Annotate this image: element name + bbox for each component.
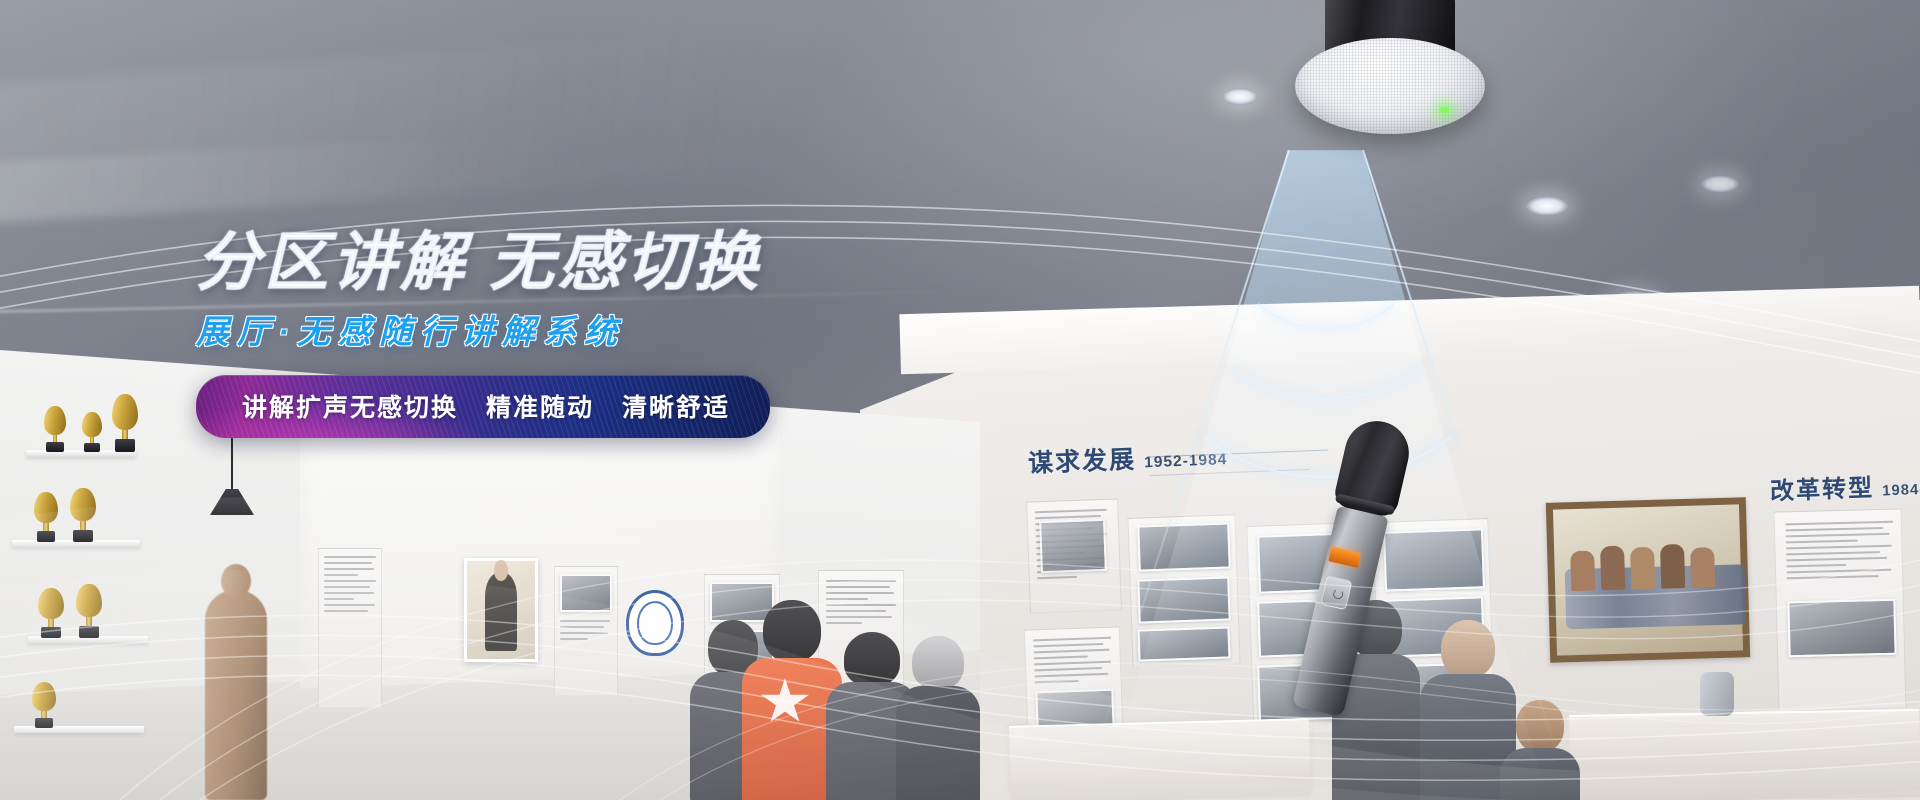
trophy-display-shelf xyxy=(8,390,178,800)
feature-pill: 讲解扩声无感切换精准随动清晰舒适 xyxy=(196,375,770,438)
exhibit-portrait-frame xyxy=(464,558,538,662)
trophy-icon xyxy=(44,406,66,452)
banner-copy: 分区讲解 无感切换 展厅·无感随行讲解系统 讲解扩声无感切换精准随动清晰舒适 xyxy=(196,228,956,443)
historic-figure-statue xyxy=(205,590,267,800)
visitor xyxy=(896,636,980,800)
page-subtitle: 展厅·无感随行讲解系统 xyxy=(196,305,956,353)
speaker-status-led-icon xyxy=(1440,107,1449,113)
speaker-grille xyxy=(1295,38,1485,134)
exhibit-panel-text xyxy=(560,620,610,644)
trophy-icon xyxy=(76,584,102,638)
feature-item-2: 精准随动 xyxy=(486,394,594,422)
ceiling-speaker xyxy=(1295,0,1485,164)
exhibit-photo xyxy=(560,574,612,612)
trophy-icon xyxy=(82,412,102,452)
trophy-icon xyxy=(112,394,138,452)
hero-banner: 谋求发展1952-1984 改革转型1984-2010 xyxy=(0,0,1920,800)
trophy-icon xyxy=(38,588,64,638)
exhibit-section-title: 改革转型1984-2010 xyxy=(1769,465,1920,507)
feature-item-3: 清晰舒适 xyxy=(622,394,730,422)
display-plinth xyxy=(1569,709,1920,800)
trophy-icon xyxy=(70,488,96,542)
downlight-icon xyxy=(1700,175,1740,193)
exhibit-panel-text xyxy=(1033,637,1115,688)
feature-item-1: 讲解扩声无感切换 xyxy=(242,394,458,422)
exhibit-section-years: 1984-2010 xyxy=(1882,481,1920,500)
exhibit-photo xyxy=(1787,599,1896,658)
exhibit-section-title-text: 改革转型 xyxy=(1770,475,1875,506)
feature-pill-text: 讲解扩声无感切换精准随动清晰舒适 xyxy=(242,388,730,424)
exhibit-mural-frame xyxy=(1546,497,1750,663)
downlight-icon xyxy=(1222,88,1258,105)
exhibit-panel-text xyxy=(324,556,376,616)
trophy-icon xyxy=(32,682,56,728)
school-emblem-icon xyxy=(626,590,684,656)
exhibit-section-title-text: 谋求发展 xyxy=(1028,446,1137,478)
exhibit-photo xyxy=(1039,519,1107,573)
downlight-icon xyxy=(1525,196,1569,216)
exhibit-panel-text xyxy=(1785,521,1896,584)
page-title: 分区讲解 无感切换 xyxy=(196,228,956,297)
trophy-icon xyxy=(34,492,58,542)
sound-wave-arc xyxy=(1160,234,1494,478)
display-artifact xyxy=(1700,672,1734,716)
